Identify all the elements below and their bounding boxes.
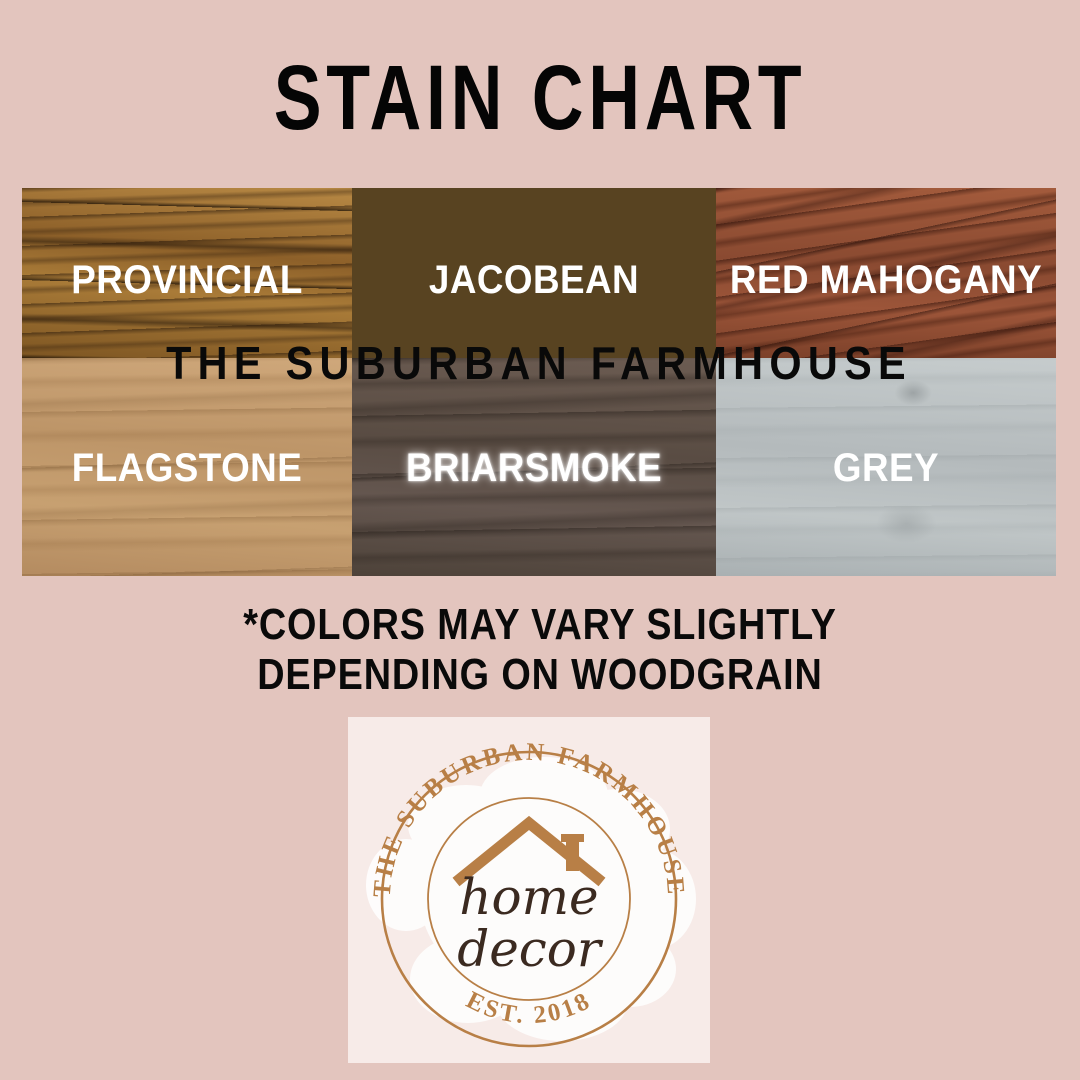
- swatch-label-grey: GREY: [730, 448, 1043, 488]
- swatch-jacobean[interactable]: JACOBEAN: [352, 188, 716, 358]
- swatch-briarsmoke[interactable]: BRIARSMOKE: [352, 358, 716, 576]
- disclaimer-text: *COLORS MAY VARY SLIGHTLY DEPENDING ON W…: [76, 600, 1005, 700]
- disclaimer-line-2: DEPENDING ON WOODGRAIN: [76, 650, 1005, 700]
- stain-swatch-grid: PROVINCIAL JACOBEAN RED MAHOGANY FLAGSTO…: [22, 188, 1056, 576]
- logo-script-home: home: [459, 868, 598, 926]
- swatch-label-provincial: PROVINCIAL: [35, 260, 339, 300]
- swatch-flagstone[interactable]: FLAGSTONE: [22, 358, 352, 576]
- swatch-label-briarsmoke: BRIARSMOKE: [367, 448, 702, 488]
- swatch-label-flagstone: FLAGSTONE: [35, 448, 339, 488]
- swatch-label-red-mahogany: RED MAHOGANY: [730, 260, 1043, 300]
- brand-logo-panel: THE SUBURBAN FARMHOUSE EST. 2018 home de…: [348, 717, 710, 1063]
- swatch-red-mahogany[interactable]: RED MAHOGANY: [716, 188, 1056, 358]
- swatch-label-jacobean: JACOBEAN: [367, 260, 702, 300]
- swatch-provincial[interactable]: PROVINCIAL: [22, 188, 352, 358]
- logo-script-decor: decor: [457, 920, 604, 978]
- brand-watermark: THE SUBURBAN FARMHOUSE: [74, 340, 1005, 386]
- swatch-grey[interactable]: GREY: [716, 358, 1056, 576]
- brand-logo: THE SUBURBAN FARMHOUSE EST. 2018 home de…: [348, 717, 710, 1063]
- page-title: STAIN CHART: [119, 52, 961, 144]
- stain-chart-page: STAIN CHART PROVINCIAL JACOBEAN RED MAHO…: [0, 0, 1080, 1080]
- disclaimer-line-1: *COLORS MAY VARY SLIGHTLY: [76, 600, 1005, 650]
